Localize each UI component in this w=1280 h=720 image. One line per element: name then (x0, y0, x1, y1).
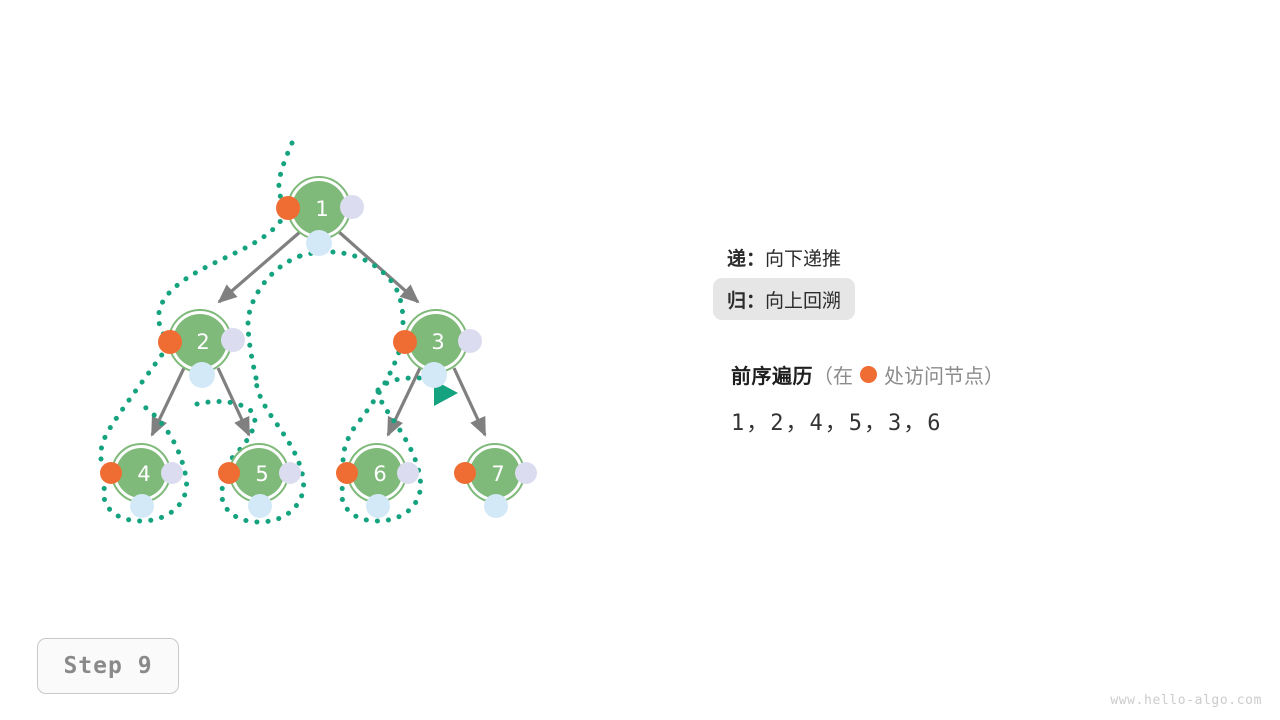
path-n5-return-to-root (248, 256, 300, 378)
edge-2-4 (152, 368, 184, 435)
legend-backtrack-label: 归： (727, 286, 765, 313)
node-7-bottom-dot (484, 494, 508, 518)
tree-node-2[interactable]: 2 (158, 310, 245, 388)
node-1-bottom-dot (306, 230, 332, 256)
node-4-right-dot (161, 462, 183, 484)
traversal-note-suffix: 处访问节点） (884, 360, 1004, 389)
traversal-order-name: 前序遍历 (731, 360, 813, 389)
tree-node-6[interactable]: 6 (336, 444, 419, 518)
traversal-order-block: 前序遍历 （在 处访问节点） 1，2，4，5，3，6 (731, 360, 1231, 437)
node-3-right-dot (458, 329, 482, 353)
step-badge-label: Step 9 (63, 653, 152, 679)
tree-node-4[interactable]: 4 (100, 444, 183, 518)
node-6-visit-dot (336, 462, 358, 484)
edge-1-3 (339, 232, 418, 302)
node-3-visit-dot (393, 330, 417, 354)
node-3-value: 3 (431, 330, 444, 354)
node-2-bottom-dot (189, 362, 215, 388)
path-root-to-n3 (300, 252, 403, 336)
visit-marker-icon (860, 366, 877, 383)
node-7-value: 7 (491, 462, 504, 486)
edge-2-5 (218, 368, 249, 435)
node-6-value: 6 (373, 462, 386, 486)
node-6-right-dot (397, 462, 419, 484)
legend-panel: 递： 向下递推 归： 向上回溯 (727, 236, 1207, 320)
node-4-bottom-dot (130, 494, 154, 518)
traversal-order-title: 前序遍历 （在 处访问节点） (731, 360, 1231, 389)
node-1-right-dot (340, 195, 364, 219)
traversal-sequence: 1，2，4，5，3，6 (731, 405, 1231, 437)
legend-recurse-text: 向下递推 (765, 244, 841, 271)
node-2-value: 2 (196, 330, 209, 354)
legend-backtrack-text: 向上回溯 (765, 286, 841, 313)
node-1-visit-dot (276, 196, 300, 220)
step-badge: Step 9 (37, 638, 179, 694)
traversal-note-prefix: （在 (813, 360, 853, 389)
legend-recurse-label: 递： (727, 244, 765, 271)
node-2-right-dot (221, 328, 245, 352)
node-5-right-dot (279, 462, 301, 484)
node-4-value: 4 (137, 462, 150, 486)
node-7-visit-dot (454, 462, 476, 484)
watermark-text: www.hello-algo.com (1110, 693, 1262, 708)
node-5-visit-dot (218, 462, 240, 484)
node-4-visit-dot (100, 462, 122, 484)
node-5-bottom-dot (248, 494, 272, 518)
node-5-value: 5 (255, 462, 268, 486)
tree-node-3[interactable]: 3 (393, 310, 482, 388)
edge-3-6 (388, 368, 420, 435)
site-watermark: www.hello-algo.com (1110, 693, 1262, 708)
edge-3-7 (454, 368, 485, 435)
node-7-right-dot (515, 462, 537, 484)
node-3-bottom-dot (421, 362, 447, 388)
legend-row-recurse: 递： 向下递推 (727, 236, 1207, 278)
node-2-visit-dot (158, 330, 182, 354)
tree-node-5[interactable]: 5 (218, 444, 301, 518)
node-1-value: 1 (315, 197, 328, 221)
tree-node-7[interactable]: 7 (454, 444, 537, 518)
legend-row-backtrack: 归： 向上回溯 (713, 278, 855, 320)
node-6-bottom-dot (366, 494, 390, 518)
